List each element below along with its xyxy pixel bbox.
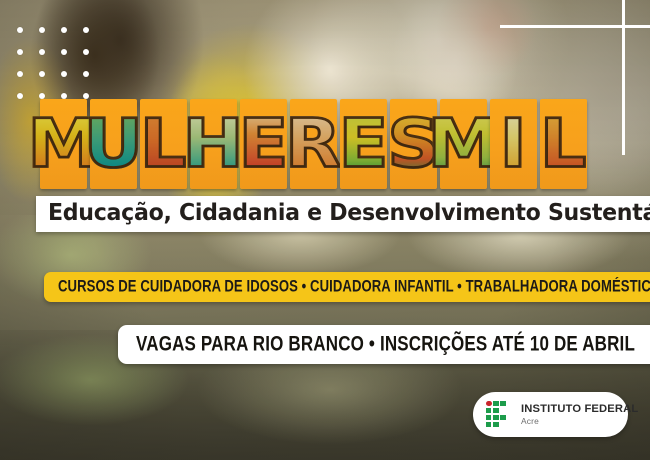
title-letter-glyph: I <box>500 110 527 177</box>
title-letter-tile: R <box>290 99 337 189</box>
title-letter-tile: E <box>340 99 387 189</box>
grid-dot <box>61 71 67 77</box>
grid-dot <box>17 93 23 99</box>
title-letter-glyph: M <box>427 110 500 177</box>
title-letter-glyph: H <box>183 110 244 177</box>
title-letter-tile: I <box>490 99 537 189</box>
logo-campus: Acre <box>521 417 638 425</box>
title-letter-glyph: L <box>540 110 587 177</box>
courses-banner-text: CURSOS DE CUIDADORA DE IDOSOS • CUIDADOR… <box>58 277 650 295</box>
title-letter-tile: H <box>190 99 237 189</box>
grid-dot <box>39 71 45 77</box>
if-mark-square <box>500 401 505 406</box>
title-letter-glyph: L <box>140 110 187 177</box>
decorative-horizontal-line <box>500 25 650 28</box>
if-mark-square <box>493 415 498 420</box>
poster-title: MULHERESMIL <box>40 99 587 189</box>
decorative-vertical-line <box>622 0 625 155</box>
title-letter-glyph: U <box>84 110 143 177</box>
subtitle-text: Educação, Cidadania e Desenvolvimento Su… <box>48 201 650 225</box>
if-mark-red-dot <box>486 401 492 407</box>
if-mark-square <box>493 401 498 406</box>
grid-dot <box>83 27 89 33</box>
logo-wordmark: INSTITUTO FEDERAL Acre <box>521 404 638 426</box>
instituto-federal-logo: INSTITUTO FEDERAL Acre <box>473 392 628 437</box>
grid-dot <box>17 71 23 77</box>
grid-dot <box>17 49 23 55</box>
grid-dot <box>61 49 67 55</box>
if-mark-square <box>486 415 491 420</box>
vacancies-banner-text: VAGAS PARA RIO BRANCO • INSCRIÇÕES ATÉ 1… <box>136 332 635 356</box>
if-mark-square <box>500 415 505 420</box>
title-letter-glyph: E <box>338 110 388 177</box>
grid-dot <box>39 27 45 33</box>
grid-dot <box>17 27 23 33</box>
poster-subtitle: Educação, Cidadania e Desenvolvimento Su… <box>36 196 650 232</box>
if-logo-mark-icon <box>486 401 512 429</box>
grid-dot <box>61 27 67 33</box>
if-mark-square <box>486 422 491 427</box>
title-letter-tile: L <box>140 99 187 189</box>
if-mark-square <box>493 408 498 413</box>
title-letter-tile: M <box>440 99 487 189</box>
title-letter-glyph: R <box>285 110 341 177</box>
poster-canvas: MULHERESMIL Educação, Cidadania e Desenv… <box>0 0 650 460</box>
grid-dot <box>39 49 45 55</box>
title-letter-tile: U <box>90 99 137 189</box>
grid-dot <box>83 49 89 55</box>
logo-name: INSTITUTO FEDERAL <box>521 404 638 415</box>
courses-banner: CURSOS DE CUIDADORA DE IDOSOS • CUIDADOR… <box>44 272 650 302</box>
title-letter-tile: M <box>40 99 87 189</box>
grid-dot <box>83 71 89 77</box>
title-letter-tile: L <box>540 99 587 189</box>
if-mark-square <box>493 422 498 427</box>
title-letter-tile: E <box>240 99 287 189</box>
vacancies-banner: VAGAS PARA RIO BRANCO • INSCRIÇÕES ATÉ 1… <box>118 325 650 364</box>
if-mark-square <box>486 408 491 413</box>
title-letter-glyph: E <box>238 110 288 177</box>
